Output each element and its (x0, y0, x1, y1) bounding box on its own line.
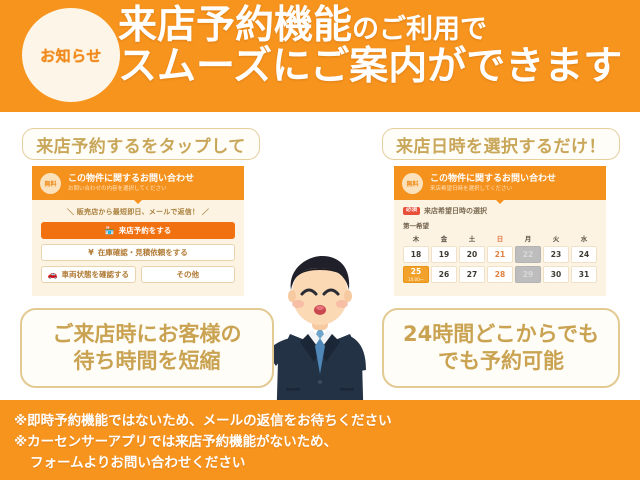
benefit-box-right: 24時間どこからでも でも予約可能 (382, 308, 620, 388)
calendar-weekday: 月 (515, 233, 541, 243)
calendar-day-time: 10:00〜 (408, 277, 424, 283)
headline-line-2: スムーズにご案内ができます (118, 47, 634, 86)
calendar-day-cell[interactable]: 27 (459, 266, 485, 283)
benefit-right-line-2: でも予約可能 (438, 348, 564, 375)
required-badge: 必須 (403, 207, 420, 216)
stock-quote-label: 在庫確認・見積依頼をする (98, 247, 188, 258)
other-button[interactable]: その他 (141, 266, 236, 283)
header-headline: 来店予約機能のご利用で スムーズにご案内ができます (118, 6, 634, 86)
calendar-weekday-row: 木金土日月火水 (403, 233, 597, 243)
headline-tail: のご利用で (352, 14, 487, 45)
inquiry-form-subtitle: お問い合わせの内容を選択してください (68, 186, 194, 192)
calendar-day-cell[interactable]: 28 (487, 266, 513, 283)
calendar-day-number: 18 (411, 250, 421, 259)
calendar-day-number: 27 (467, 270, 477, 279)
right-callout-pill: 来店日時を選択するだけ！ (382, 128, 620, 160)
benefit-box-left: ご来店時にお客様の 待ち時間を短縮 (20, 308, 274, 388)
headline-main: 来店予約機能 (118, 3, 352, 48)
calendar-day-cell[interactable]: 30 (543, 266, 569, 283)
store-icon: 🏪 (105, 226, 115, 235)
footer-note-1: ※即時予約機能ではないため、メールの返信をお待ちください (14, 411, 392, 432)
footer-note-3: フォームよりお問い合わせください (30, 453, 245, 474)
notice-badge-label: お知らせ (40, 45, 102, 66)
calendar-form-title: この物件に関するお問い合わせ (430, 174, 556, 184)
calendar-day-number: 24 (579, 250, 589, 259)
notch-arrow (496, 200, 504, 204)
calendar-day-number: 29 (523, 270, 533, 279)
vehicle-condition-label: 車両状態を確認する (61, 269, 129, 280)
calendar-day-number: 19 (439, 250, 449, 259)
calendar-weekday: 木 (403, 233, 429, 243)
benefit-left-line-2: 待ち時間を短縮 (74, 348, 221, 375)
vehicle-condition-button[interactable]: 🚗 車両状態を確認する (41, 266, 136, 283)
calendar-day-cell[interactable]: 18 (403, 246, 429, 263)
calendar-day-number: 20 (467, 250, 477, 259)
calendar-weekday: 土 (459, 233, 485, 243)
calendar-section-heading: 必須 来店希望日時の選択 (403, 206, 597, 216)
header-band: お知らせ 来店予約機能のご利用で スムーズにご案内ができます (0, 0, 640, 112)
calendar-day-cell: 29 (515, 266, 541, 283)
calendar-day-cell[interactable]: 21 (487, 246, 513, 263)
benefit-right-line-1: 24時間どこからでも (403, 321, 599, 348)
calendar-weekday: 金 (431, 233, 457, 243)
calendar-mockup: 無料 この物件に関するお問い合わせ 来店希望日時を選択してください 必須 来店希… (394, 166, 606, 296)
content-area: 来店予約するをタップして 来店日時を選択するだけ！ 無料 この物件に関するお問い… (0, 112, 640, 400)
calendar-day-cell[interactable]: 23 (543, 246, 569, 263)
footer-note-2: ※カーセンサーアプリでは来店予約機能がないため、 (14, 432, 337, 453)
calendar-week-row[interactable]: 18192021222324 (403, 246, 597, 263)
calendar-day-number: 22 (523, 250, 533, 259)
inquiry-form-title: この物件に関するお問い合わせ (68, 174, 194, 184)
footer-band: ※即時予約機能ではないため、メールの返信をお待ちください ※カーセンサーアプリで… (0, 400, 640, 480)
other-label: その他 (177, 269, 200, 280)
notch-arrow (134, 200, 142, 204)
calendar-form-header: 無料 この物件に関するお問い合わせ 来店希望日時を選択してください (394, 166, 606, 200)
calendar-day-number: 26 (439, 270, 449, 279)
calendar-day-cell[interactable]: 20 (459, 246, 485, 263)
calendar-form-subtitle: 来店希望日時を選択してください (430, 186, 556, 192)
calendar-day-number: 30 (551, 270, 561, 279)
stock-quote-button[interactable]: ¥ 在庫確認・見積依頼をする (41, 244, 235, 261)
calendar-day-cell[interactable]: 24 (571, 246, 597, 263)
calendar-day-number: 21 (495, 250, 505, 259)
calendar-day-number: 23 (551, 250, 561, 259)
calendar-day-cell[interactable]: 2510:00〜 (403, 266, 429, 283)
car-icon: 🚗 (48, 270, 58, 279)
calendar-weekday: 日 (487, 233, 513, 243)
calendar-day-number: 25 (411, 267, 421, 276)
preference-label: 第一希望 (403, 220, 597, 230)
calendar-day-cell[interactable]: 19 (431, 246, 457, 263)
calendar-day-cell[interactable]: 26 (431, 266, 457, 283)
calendar-day-cell[interactable]: 31 (571, 266, 597, 283)
calendar-day-number: 31 (579, 270, 589, 279)
inquiry-form-header: 無料 この物件に関するお問い合わせ お問い合わせの内容を選択してください (32, 166, 244, 200)
benefit-left-line-1: ご来店時にお客様の (53, 321, 242, 348)
calendar-day-cell: 22 (515, 246, 541, 263)
left-callout-pill: 来店予約するをタップして (22, 128, 260, 160)
calendar-day-number: 28 (495, 270, 505, 279)
reply-note: ＼ 販売店から最短即日、メールで返信！ ／ (32, 207, 244, 217)
free-badge: 無料 (40, 173, 61, 194)
notice-badge: お知らせ (22, 8, 120, 102)
inquiry-form-mockup: 無料 この物件に関するお問い合わせ お問い合わせの内容を選択してください ＼ 販… (32, 166, 244, 296)
calendar-weekday: 水 (571, 233, 597, 243)
free-badge: 無料 (402, 173, 423, 194)
visit-reservation-label: 来店予約をする (119, 225, 172, 236)
headline-line-1: 来店予約機能のご利用で (118, 6, 634, 45)
calendar-weekday: 火 (543, 233, 569, 243)
visit-reservation-button[interactable]: 🏪 来店予約をする (41, 222, 235, 239)
yen-icon: ¥ (88, 248, 94, 257)
promo-banner: お知らせ 来店予約機能のご利用で スムーズにご案内ができます 来店予約するをタッ… (0, 0, 640, 480)
calendar-section-label: 来店希望日時の選択 (424, 206, 487, 216)
calendar-week-row[interactable]: 2510:00〜262728293031 (403, 266, 597, 283)
